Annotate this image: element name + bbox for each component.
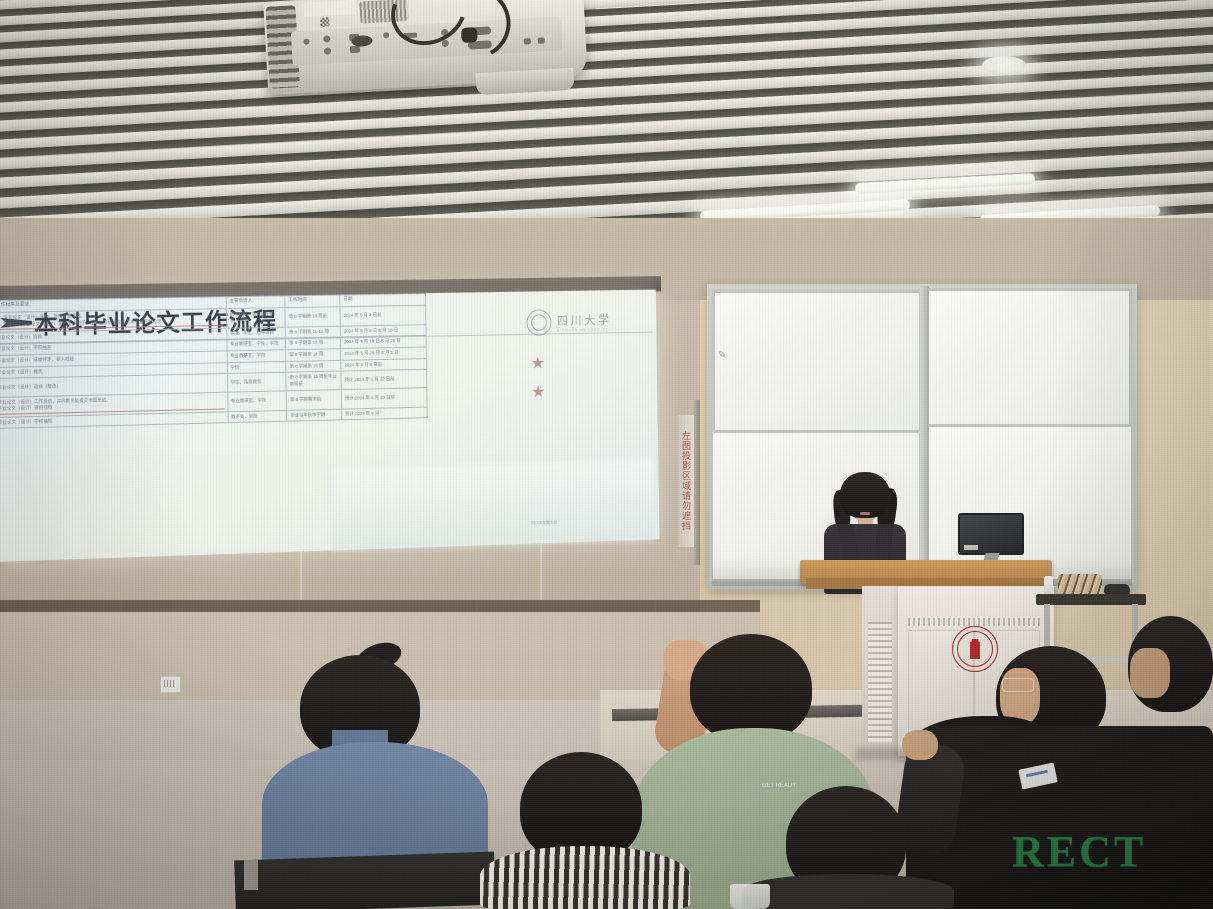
cell-line: 学生、指导教师 bbox=[231, 378, 283, 386]
cell-line: 第 8 学期第 10 周前 bbox=[289, 313, 337, 320]
cell-line: 第 8 学期第 16 周至毕业离校前 bbox=[290, 374, 338, 388]
slide-credit: 四川大学教务处 bbox=[531, 520, 557, 527]
desk-row-right bbox=[930, 880, 1213, 909]
ceiling-projector bbox=[263, 0, 589, 111]
table-cell-date: 预计 2024 年 6 月 29 日前 bbox=[341, 387, 427, 408]
cell-line: 2024 年 5 月 26 日-6 月 1 日 bbox=[344, 350, 423, 358]
projector-port-icon bbox=[324, 47, 331, 54]
podium-vent bbox=[868, 622, 892, 742]
projection-screen: 本科毕业论文工作流程 四川大学 SICHUAN UNIVERSITY 工作程序及… bbox=[0, 289, 670, 568]
student-hand bbox=[902, 730, 938, 760]
cell-line: 学院 bbox=[230, 364, 282, 372]
wall-banner: 左图投影区域请勿遮挡 bbox=[678, 415, 695, 547]
cell-line: 教务处、学院 bbox=[231, 412, 283, 420]
table-cell-date: 预计 2024 年 9 月 bbox=[342, 407, 428, 420]
star-marker-icon: ★ bbox=[531, 355, 545, 372]
projector-lens-housing bbox=[475, 68, 574, 95]
cell-line: 预计 2024 年 6 月 29 日前 bbox=[345, 394, 424, 402]
table-cell-owner: 专业教研室、学院 bbox=[227, 391, 286, 412]
cell-line: 毕业论文（设计）学校抽检 bbox=[0, 414, 224, 426]
projector-label bbox=[303, 0, 356, 17]
col-owner: 主要负责人 bbox=[226, 296, 285, 309]
whiteboard-divider bbox=[920, 286, 929, 586]
monitor-badge bbox=[964, 545, 978, 550]
student-face bbox=[1130, 648, 1170, 698]
university-logo: 四川大学 SICHUAN UNIVERSITY bbox=[526, 307, 645, 336]
cell-line: 2024 年 5 月 19 日-5 月 25 日 bbox=[344, 338, 423, 346]
whiteboard-panel-top-right[interactable] bbox=[926, 288, 1132, 436]
cell-line: 毕业当年秋季学期 bbox=[290, 411, 338, 419]
cell-line: 毕业论文（设计）返修（整改） bbox=[0, 380, 224, 392]
cell-line: 预计 2024 年 9 月 bbox=[345, 409, 424, 417]
power-outlet-icon bbox=[164, 680, 175, 687]
table-cell-date: 2024 年 5 月 4 日前 bbox=[340, 305, 426, 326]
workflow-table: 工作程序及要求 主要负责人 工作时间 日期 1．毕业论文（设计）字数、范围专家评… bbox=[0, 293, 428, 429]
podium-monitor[interactable] bbox=[958, 513, 1024, 561]
student-striped-shirt bbox=[480, 846, 690, 909]
wall-banner-text: 左图投影区域请勿遮挡 bbox=[680, 431, 693, 531]
projector-port-icon bbox=[524, 38, 531, 44]
projector-port-icon bbox=[323, 35, 330, 42]
side-table-top bbox=[1036, 594, 1146, 605]
cell-line: 学院、学生、指导教师 bbox=[230, 329, 283, 336]
table-cell-owner: 学生、指导教师 bbox=[227, 373, 286, 392]
projector-cable-connector bbox=[461, 27, 478, 43]
university-emblem-icon bbox=[952, 626, 998, 672]
screen-side-post bbox=[694, 400, 700, 565]
projector-port-icon bbox=[303, 39, 309, 45]
podium-trim bbox=[908, 618, 1040, 626]
cell-line: 2024 年 5 月 6 日-5 月 18 日 bbox=[344, 327, 423, 335]
ceiling-downlight bbox=[982, 56, 1026, 74]
cup-on-desk bbox=[730, 884, 770, 909]
cell-line: 第 8 学期第 15 周 bbox=[289, 363, 337, 371]
slide-surface: 本科毕业论文工作流程 四川大学 SICHUAN UNIVERSITY 工作程序及… bbox=[0, 290, 659, 562]
cell-line: 专业教研室、学院 bbox=[231, 397, 283, 405]
presenter-mouth bbox=[860, 512, 870, 515]
workflow-table-body: 1．毕业论文（设计）字数、范围专家评阅。2．学生提交毕业论文（设计）室时在线测评… bbox=[0, 305, 427, 428]
table-cell-date: 预计 2024 年 6 月 22 日前 bbox=[341, 370, 427, 390]
student-head bbox=[690, 634, 812, 742]
eyeglasses-icon bbox=[1002, 678, 1034, 692]
cell-line: 专业教研室、学生、学院 bbox=[230, 341, 283, 349]
cell-line: 指导教师、学生所在专业、学院 bbox=[230, 311, 283, 325]
projector-port-icon bbox=[538, 37, 545, 43]
university-name-cn: 四川大学 bbox=[557, 311, 612, 328]
whiteboard-marking: ✎ bbox=[718, 350, 730, 372]
projector-port-icon bbox=[383, 32, 389, 38]
projector-vga-port-icon bbox=[350, 46, 360, 54]
university-name-en: SICHUAN UNIVERSITY bbox=[557, 327, 612, 332]
cell-line: 2024 年 6 月 8 日前 bbox=[344, 361, 423, 369]
university-emblem-core bbox=[970, 639, 980, 659]
cell-line: 第 8 学期第 11-12 周 bbox=[289, 328, 337, 335]
cell-line: 专业教研室、学院 bbox=[230, 352, 282, 360]
table-cell-time: 第 8 学期第 16 周至毕业离校前 bbox=[286, 371, 341, 390]
star-marker-icon: ★ bbox=[531, 384, 545, 401]
university-emblem-ring bbox=[957, 631, 993, 667]
table-cell-time: 毕业当年秋季学期 bbox=[287, 409, 342, 422]
student-dark-shirt bbox=[742, 874, 954, 909]
cell-line: 2024 年 5 月 4 日前 bbox=[343, 312, 422, 320]
university-seal-icon bbox=[526, 309, 551, 335]
lecture-hall-photo: 本科毕业论文工作流程 四川大学 SICHUAN UNIVERSITY 工作程序及… bbox=[0, 0, 1213, 909]
table-cell-owner: 教务处、学院 bbox=[228, 410, 287, 423]
col-time: 工作时间 bbox=[285, 295, 340, 308]
cell-line: 第 8 学期期末前 bbox=[290, 396, 338, 404]
table-cell-owner: 指导教师、学生所在专业、学院 bbox=[226, 308, 285, 328]
chair-bracket bbox=[244, 860, 258, 890]
cell-line: 第 8 学期第 14 周 bbox=[289, 351, 337, 358]
university-seal-inner bbox=[531, 314, 547, 331]
chair-backrest bbox=[234, 851, 496, 909]
table-cell-time: 第 8 学期期末前 bbox=[286, 389, 341, 410]
hoodie-print-text: RECT bbox=[1012, 826, 1146, 877]
whiteboard-panel-top-left[interactable] bbox=[712, 290, 922, 436]
screen-glare bbox=[333, 459, 656, 550]
cell-line: 第 8 学期第 13 周 bbox=[289, 340, 337, 347]
table-cell-time: 第 8 学期第 10 周前 bbox=[285, 307, 340, 327]
cell-line: 预计 2024 年 6 月 22 日前 bbox=[344, 375, 423, 383]
projector-qr-icon bbox=[320, 17, 329, 26]
